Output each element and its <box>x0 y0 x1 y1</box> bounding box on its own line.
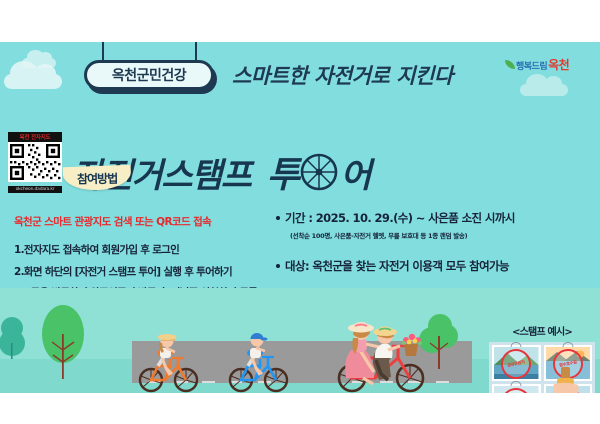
qr-url-label: okcheon.dadara.kr <box>8 186 62 193</box>
stamp-examples-section: <스탬프 예시> 금강유원지 향수호수길 <box>489 323 595 393</box>
tagline: 스마트한 자전거로 지킨다 <box>232 60 453 90</box>
boy-on-blue-bike <box>230 333 287 391</box>
brand-logo: 행복드림 옥천 <box>505 56 569 73</box>
hook-icon <box>562 342 573 347</box>
girl-on-orange-bike <box>140 334 197 391</box>
couple-on-red-tandem-bike <box>339 322 423 391</box>
bicycle-wheel-icon <box>299 152 339 192</box>
sign-plate: 옥천군민건강 <box>84 60 214 90</box>
hand-holding-stamp-icon <box>551 367 581 393</box>
tree-left <box>0 317 25 359</box>
bullet-icon <box>276 216 280 220</box>
period-row: 기간 : 2025. 10. 29.(수) ~ 사은품 소진 시까시 <box>276 210 594 226</box>
lead-instruction: 옥천군 스마트 관광지도 검색 또는 QR코드 접속 <box>14 214 314 229</box>
step-1: 1.전자지도 접속하여 회원가입 후 로그인 <box>14 242 314 257</box>
qr-block[interactable]: 옥천 전자지도 okch <box>8 132 62 193</box>
target-label: 대상: 옥천군을 찾는 자전거 이용객 모두 참여가능 <box>285 258 509 274</box>
stamp-examples-title: <스탬프 예시> <box>489 323 595 338</box>
title-tour-2: 어 <box>340 148 370 197</box>
cloud-icon <box>22 58 56 68</box>
tree-right <box>419 314 458 369</box>
sign-label: 옥천군민건강 <box>112 65 186 85</box>
step-2: 2.화면 하단의 [자전거 스탬프 투어] 실행 후 투어하기 <box>14 264 314 279</box>
right-info-panel: 기간 : 2025. 10. 29.(수) ~ 사은품 소진 시까시 (선착순 … <box>276 210 594 274</box>
target-row: 대상: 옥천군을 찾는 자전거 이용객 모두 참여가능 <box>276 258 594 274</box>
brand-slogan: 행복드림 <box>516 59 547 72</box>
hook-icon <box>511 381 522 386</box>
bullet-icon <box>276 264 280 268</box>
period-sublabel: (선착순 100명, 사은품-자전거 헬멧, 무릎 보호대 등 1종 랜덤 발송… <box>290 230 594 240</box>
qr-caption: 옥천 전자지도 <box>8 132 62 142</box>
poster-canvas: 옥천군민건강 스마트한 자전거로 지킨다 행복드림 옥천 옥천 전자지도 <box>0 42 600 393</box>
brand-name: 옥천 <box>548 56 569 73</box>
qr-code-icon[interactable] <box>8 142 62 182</box>
hook-icon <box>511 342 522 347</box>
cloud-icon <box>4 74 62 89</box>
title-tour-1: 투 <box>267 146 299 198</box>
cloud-icon <box>520 84 568 96</box>
leaf-icon <box>505 60 515 69</box>
stamp-card[interactable]: 금강유원지 <box>492 345 541 381</box>
period-label: 기간 : 2025. 10. 29.(수) ~ 사은품 소진 시까시 <box>285 210 515 226</box>
hanging-sign: 옥천군민건강 <box>78 42 218 98</box>
ribbon-label: 참여방법 <box>77 169 117 187</box>
tree-mid <box>42 305 84 379</box>
stamp-card[interactable]: 장계관광지 <box>492 384 541 393</box>
